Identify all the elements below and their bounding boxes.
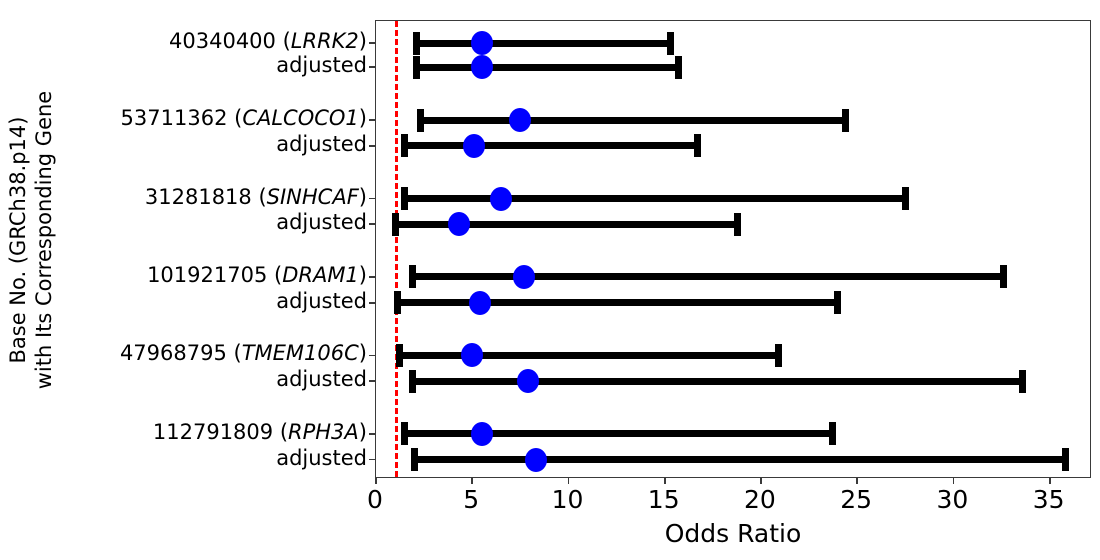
confidence-interval-cap-upper [829, 422, 836, 445]
forest-plot-figure: Base No. (GRCh38.p14) with Its Correspon… [0, 0, 1100, 560]
confidence-interval-cap-upper [775, 344, 782, 367]
odds-ratio-point-marker [525, 448, 547, 472]
odds-ratio-point-marker [463, 134, 485, 158]
confidence-interval-bar [420, 117, 845, 124]
x-tick-mark [664, 477, 666, 484]
odds-ratio-point-marker [471, 422, 493, 446]
odds-ratio-point-marker [448, 212, 470, 236]
x-tick-mark [471, 477, 473, 484]
confidence-interval-cap-lower [392, 213, 399, 236]
gene-name: CALCOCO1 [242, 106, 358, 130]
y-tick-mark [369, 198, 376, 200]
gene-name: LRRK2 [291, 29, 359, 53]
x-tick-mark [953, 477, 955, 484]
y-tick-mark [369, 459, 376, 461]
confidence-interval-cap-lower [401, 187, 408, 210]
confidence-interval-cap-upper [842, 109, 849, 132]
odds-ratio-point-marker [513, 265, 535, 289]
x-tick-mark [856, 477, 858, 484]
confidence-interval-cap-upper [1000, 265, 1007, 288]
confidence-interval-cap-upper [1062, 448, 1069, 471]
gene-name: DRAM1 [282, 263, 359, 287]
y-tick-mark [369, 42, 376, 44]
y-tick-mark [369, 66, 376, 68]
confidence-interval-bar [405, 142, 698, 149]
x-tick-mark [375, 477, 377, 484]
x-tick-label: 35 [1033, 486, 1065, 514]
gene-name: TMEM106C [242, 341, 359, 365]
confidence-interval-cap-lower [401, 134, 408, 157]
odds-ratio-point-marker [469, 291, 491, 315]
plot-area [375, 20, 1091, 478]
confidence-interval-bar [405, 195, 905, 202]
x-tick-label: 20 [744, 486, 776, 514]
confidence-interval-cap-lower [413, 32, 420, 55]
confidence-interval-cap-lower [417, 109, 424, 132]
odds-ratio-point-marker [517, 369, 539, 393]
confidence-interval-bar [413, 273, 1004, 280]
x-tick-label: 0 [367, 486, 383, 514]
confidence-interval-cap-lower [396, 344, 403, 367]
y-tick-label: 101921705 (DRAM1) [7, 265, 367, 286]
x-tick-mark [760, 477, 762, 484]
confidence-interval-cap-lower [413, 56, 420, 79]
y-tick-mark [369, 119, 376, 121]
confidence-interval-bar [395, 221, 738, 228]
gene-name: SINHCAF [267, 185, 359, 209]
reference-line [395, 21, 398, 477]
odds-ratio-point-marker [509, 108, 531, 132]
confidence-interval-bar [413, 378, 1023, 385]
y-tick-label: 40340400 (LRRK2) [7, 31, 367, 52]
confidence-interval-bar [416, 40, 670, 47]
y-tick-mark [369, 302, 376, 304]
confidence-interval-cap-upper [834, 291, 841, 314]
confidence-interval-cap-upper [675, 56, 682, 79]
x-tick-label: 5 [463, 486, 479, 514]
y-tick-mark [369, 380, 376, 382]
y-tick-label: adjusted [7, 212, 367, 233]
x-axis-title: Odds Ratio [375, 520, 1091, 548]
y-tick-mark [369, 276, 376, 278]
odds-ratio-point-marker [490, 187, 512, 211]
x-tick-mark [1049, 477, 1051, 484]
confidence-interval-cap-upper [734, 213, 741, 236]
odds-ratio-point-marker [461, 343, 483, 367]
y-tick-label: adjusted [7, 448, 367, 469]
confidence-interval-bar [399, 352, 778, 359]
confidence-interval-cap-lower [411, 448, 418, 471]
confidence-interval-bar [414, 456, 1065, 463]
x-tick-label: 30 [937, 486, 969, 514]
confidence-interval-bar [405, 430, 832, 437]
y-tick-label: 47968795 (TMEM106C) [7, 343, 367, 364]
confidence-interval-cap-upper [694, 134, 701, 157]
confidence-interval-bar [397, 299, 838, 306]
y-tick-label: adjusted [7, 291, 367, 312]
plot-inner [376, 21, 1090, 477]
y-tick-mark [369, 355, 376, 357]
y-tick-label: 112791809 (RPH3A) [7, 422, 367, 443]
x-tick-label: 10 [552, 486, 584, 514]
y-tick-mark [369, 223, 376, 225]
y-tick-label: adjusted [7, 369, 367, 390]
y-tick-label: adjusted [7, 55, 367, 76]
confidence-interval-cap-lower [409, 265, 416, 288]
confidence-interval-cap-upper [902, 187, 909, 210]
y-tick-mark [369, 145, 376, 147]
gene-name: RPH3A [288, 420, 359, 444]
y-tick-label: 53711362 (CALCOCO1) [7, 108, 367, 129]
x-tick-mark [568, 477, 570, 484]
confidence-interval-cap-upper [1019, 370, 1026, 393]
odds-ratio-point-marker [471, 31, 493, 55]
odds-ratio-point-marker [471, 55, 493, 79]
y-tick-label: adjusted [7, 134, 367, 155]
x-tick-label: 15 [648, 486, 680, 514]
y-tick-mark [369, 433, 376, 435]
confidence-interval-cap-lower [401, 422, 408, 445]
confidence-interval-cap-upper [667, 32, 674, 55]
confidence-interval-cap-lower [409, 370, 416, 393]
y-tick-label: 31281818 (SINHCAF) [7, 187, 367, 208]
x-tick-label: 25 [840, 486, 872, 514]
confidence-interval-cap-lower [394, 291, 401, 314]
confidence-interval-bar [416, 64, 678, 71]
